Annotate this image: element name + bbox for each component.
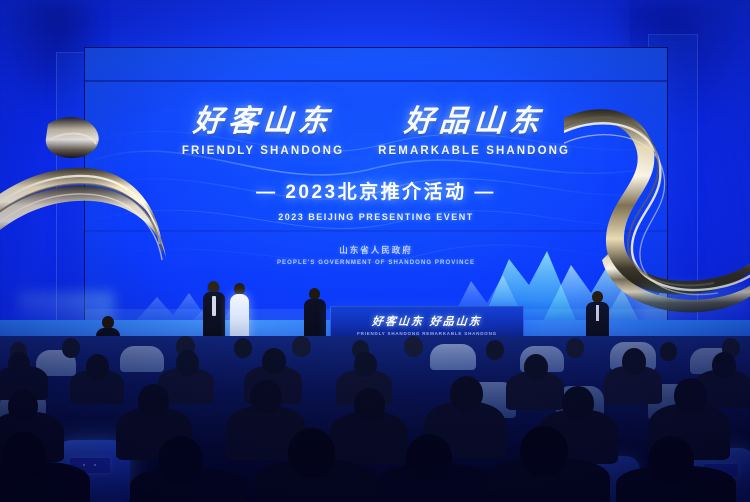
audience-head	[176, 350, 199, 376]
audience-head	[674, 378, 707, 413]
audience-head-foreground	[2, 432, 46, 478]
audience-head-foreground	[520, 426, 568, 476]
audience-head	[486, 340, 504, 360]
audience-head	[8, 390, 38, 422]
chair-back	[120, 346, 164, 372]
organizer-cn: 山东省人民政府	[339, 244, 413, 256]
podium-banner-en: FRIENDLY SHANDONG REMARKABLE SHANDONG	[357, 331, 497, 336]
audience-head	[138, 384, 169, 417]
chair-label-glyph	[94, 464, 96, 466]
audience-head-foreground	[406, 434, 452, 482]
headline-row: 好客山东 FRIENDLY SHANDONG 好品山东 REMARKABLE S…	[182, 106, 570, 157]
audience-head	[250, 380, 282, 414]
organizer-en: PEOPLE'S GOVERNMENT OF SHANDONG PROVINCE	[277, 260, 475, 266]
audience-head	[712, 352, 736, 378]
chair-back	[430, 344, 476, 370]
audience-head	[62, 338, 80, 358]
gold-ribbon-arc-right	[564, 40, 750, 330]
audience-head	[562, 386, 594, 420]
headline-right-en: REMARKABLE SHANDONG	[378, 145, 570, 157]
audience-head	[566, 338, 584, 358]
audience-head	[404, 336, 423, 357]
audience-head	[292, 336, 311, 357]
headline-left-cn: 好客山东	[192, 106, 334, 138]
audience-area	[0, 336, 750, 502]
organizer-block: 山东省人民政府 PEOPLE'S GOVERNMENT OF SHANDONG …	[277, 244, 475, 266]
headline-right-cn: 好品山东	[403, 106, 545, 138]
gold-ribbon-arc-left	[0, 58, 170, 328]
event-stage-photograph: 好客山东 FRIENDLY SHANDONG 好品山东 REMARKABLE S…	[0, 0, 750, 502]
stage-host-female	[229, 283, 250, 343]
podium-banner-cn: 好客山东 好品山东	[372, 313, 483, 329]
headline-left: 好客山东 FRIENDLY SHANDONG	[182, 106, 344, 157]
subtitle-block: — 2023北京推介活动 — 2023 BEIJING PRESENTING E…	[256, 177, 496, 222]
audience-head	[8, 352, 30, 376]
audience-head	[660, 342, 677, 361]
right-figure-shirt	[596, 305, 599, 321]
audience-head	[234, 338, 252, 358]
audience-head	[86, 354, 109, 379]
audience-head-foreground	[158, 436, 203, 484]
audience-head	[354, 352, 377, 377]
audience-head-foreground	[648, 436, 694, 484]
audience-head	[524, 354, 548, 380]
headline-left-en: FRIENDLY SHANDONG	[182, 145, 344, 157]
host-male-shirt	[212, 296, 216, 316]
stage-host-male	[203, 281, 225, 343]
audience-head	[450, 376, 483, 411]
chair-label-glyph	[83, 464, 85, 466]
subtitle-en: 2023 BEIJING PRESENTING EVENT	[278, 212, 474, 222]
headline-right: 好品山东 REMARKABLE SHANDONG	[378, 106, 570, 157]
audience-head	[622, 348, 646, 375]
audience-head	[354, 388, 385, 421]
audience-head-foreground	[288, 428, 335, 478]
subtitle-cn: — 2023北京推介活动 —	[256, 177, 496, 204]
stage-figure-center	[304, 288, 326, 342]
audience-head	[262, 348, 286, 374]
